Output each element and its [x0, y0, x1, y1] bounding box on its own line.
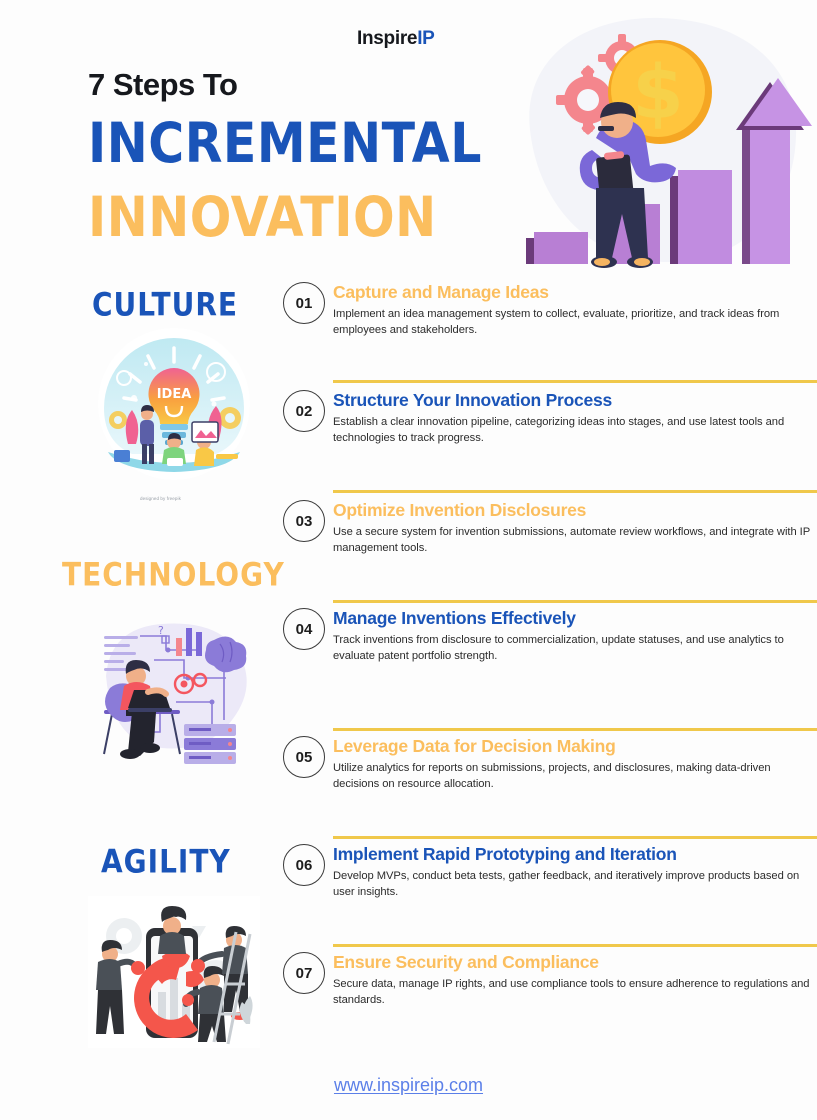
step-title: Leverage Data for Decision Making	[333, 736, 817, 756]
category-label-technology: TECHNOLOGY	[62, 556, 285, 593]
website-link[interactable]: www.inspireip.com	[0, 1075, 817, 1096]
step-description: Develop MVPs, conduct beta tests, gather…	[333, 869, 817, 901]
step-description: Secure data, manage IP rights, and use c…	[333, 977, 817, 1009]
step-description: Use a secure system for invention submis…	[333, 525, 817, 557]
step-divider	[333, 836, 817, 839]
agility-illustration	[88, 896, 260, 1048]
step-description: Utilize analytics for reports on submiss…	[333, 761, 817, 793]
title-eyebrow: 7 Steps To	[88, 68, 498, 102]
step-title: Structure Your Innovation Process	[333, 390, 817, 410]
step-number-badge: 02	[283, 390, 325, 432]
step-divider	[333, 380, 817, 383]
step-title: Capture and Manage Ideas	[333, 282, 817, 302]
category-label-culture: CULTURE	[92, 286, 238, 323]
step-description: Implement an idea management system to c…	[333, 307, 817, 339]
logo-accent-text: IP	[417, 28, 434, 49]
step-number-badge: 04	[283, 608, 325, 650]
svg-text:IDEA: IDEA	[157, 387, 192, 402]
hero-illustration: $	[492, 10, 814, 278]
step-title: Manage Inventions Effectively	[333, 608, 817, 628]
logo-main-text: Inspire	[357, 28, 417, 49]
culture-illustration: IDEA	[88, 326, 260, 488]
title-line-incremental: INCREMENTAL	[88, 116, 498, 172]
step-number-badge: 06	[283, 844, 325, 886]
freepik-credit: designed by freepik	[140, 496, 181, 501]
technology-illustration: ?	[88, 606, 260, 772]
step-number-badge: 01	[283, 282, 325, 324]
svg-text:$: $	[632, 50, 684, 136]
step-description: Track inventions from disclosure to comm…	[333, 633, 817, 665]
svg-text:?: ?	[158, 624, 164, 637]
step-divider	[333, 728, 817, 731]
step-description: Establish a clear innovation pipeline, c…	[333, 415, 817, 447]
category-label-agility: AGILITY	[101, 843, 231, 880]
step-title: Optimize Invention Disclosures	[333, 500, 817, 520]
step-title: Ensure Security and Compliance	[333, 952, 817, 972]
step-divider	[333, 490, 817, 493]
step-title: Implement Rapid Prototyping and Iteratio…	[333, 844, 817, 864]
step-divider	[333, 600, 817, 603]
step-number-badge: 07	[283, 952, 325, 994]
step-number-badge: 03	[283, 500, 325, 542]
page-title: 7 Steps To INCREMENTAL INNOVATION	[88, 68, 498, 240]
step-divider	[333, 944, 817, 947]
step-number-badge: 05	[283, 736, 325, 778]
title-line-innovation: INNOVATION	[88, 190, 498, 246]
brand-logo: InspireIP	[357, 28, 435, 50]
